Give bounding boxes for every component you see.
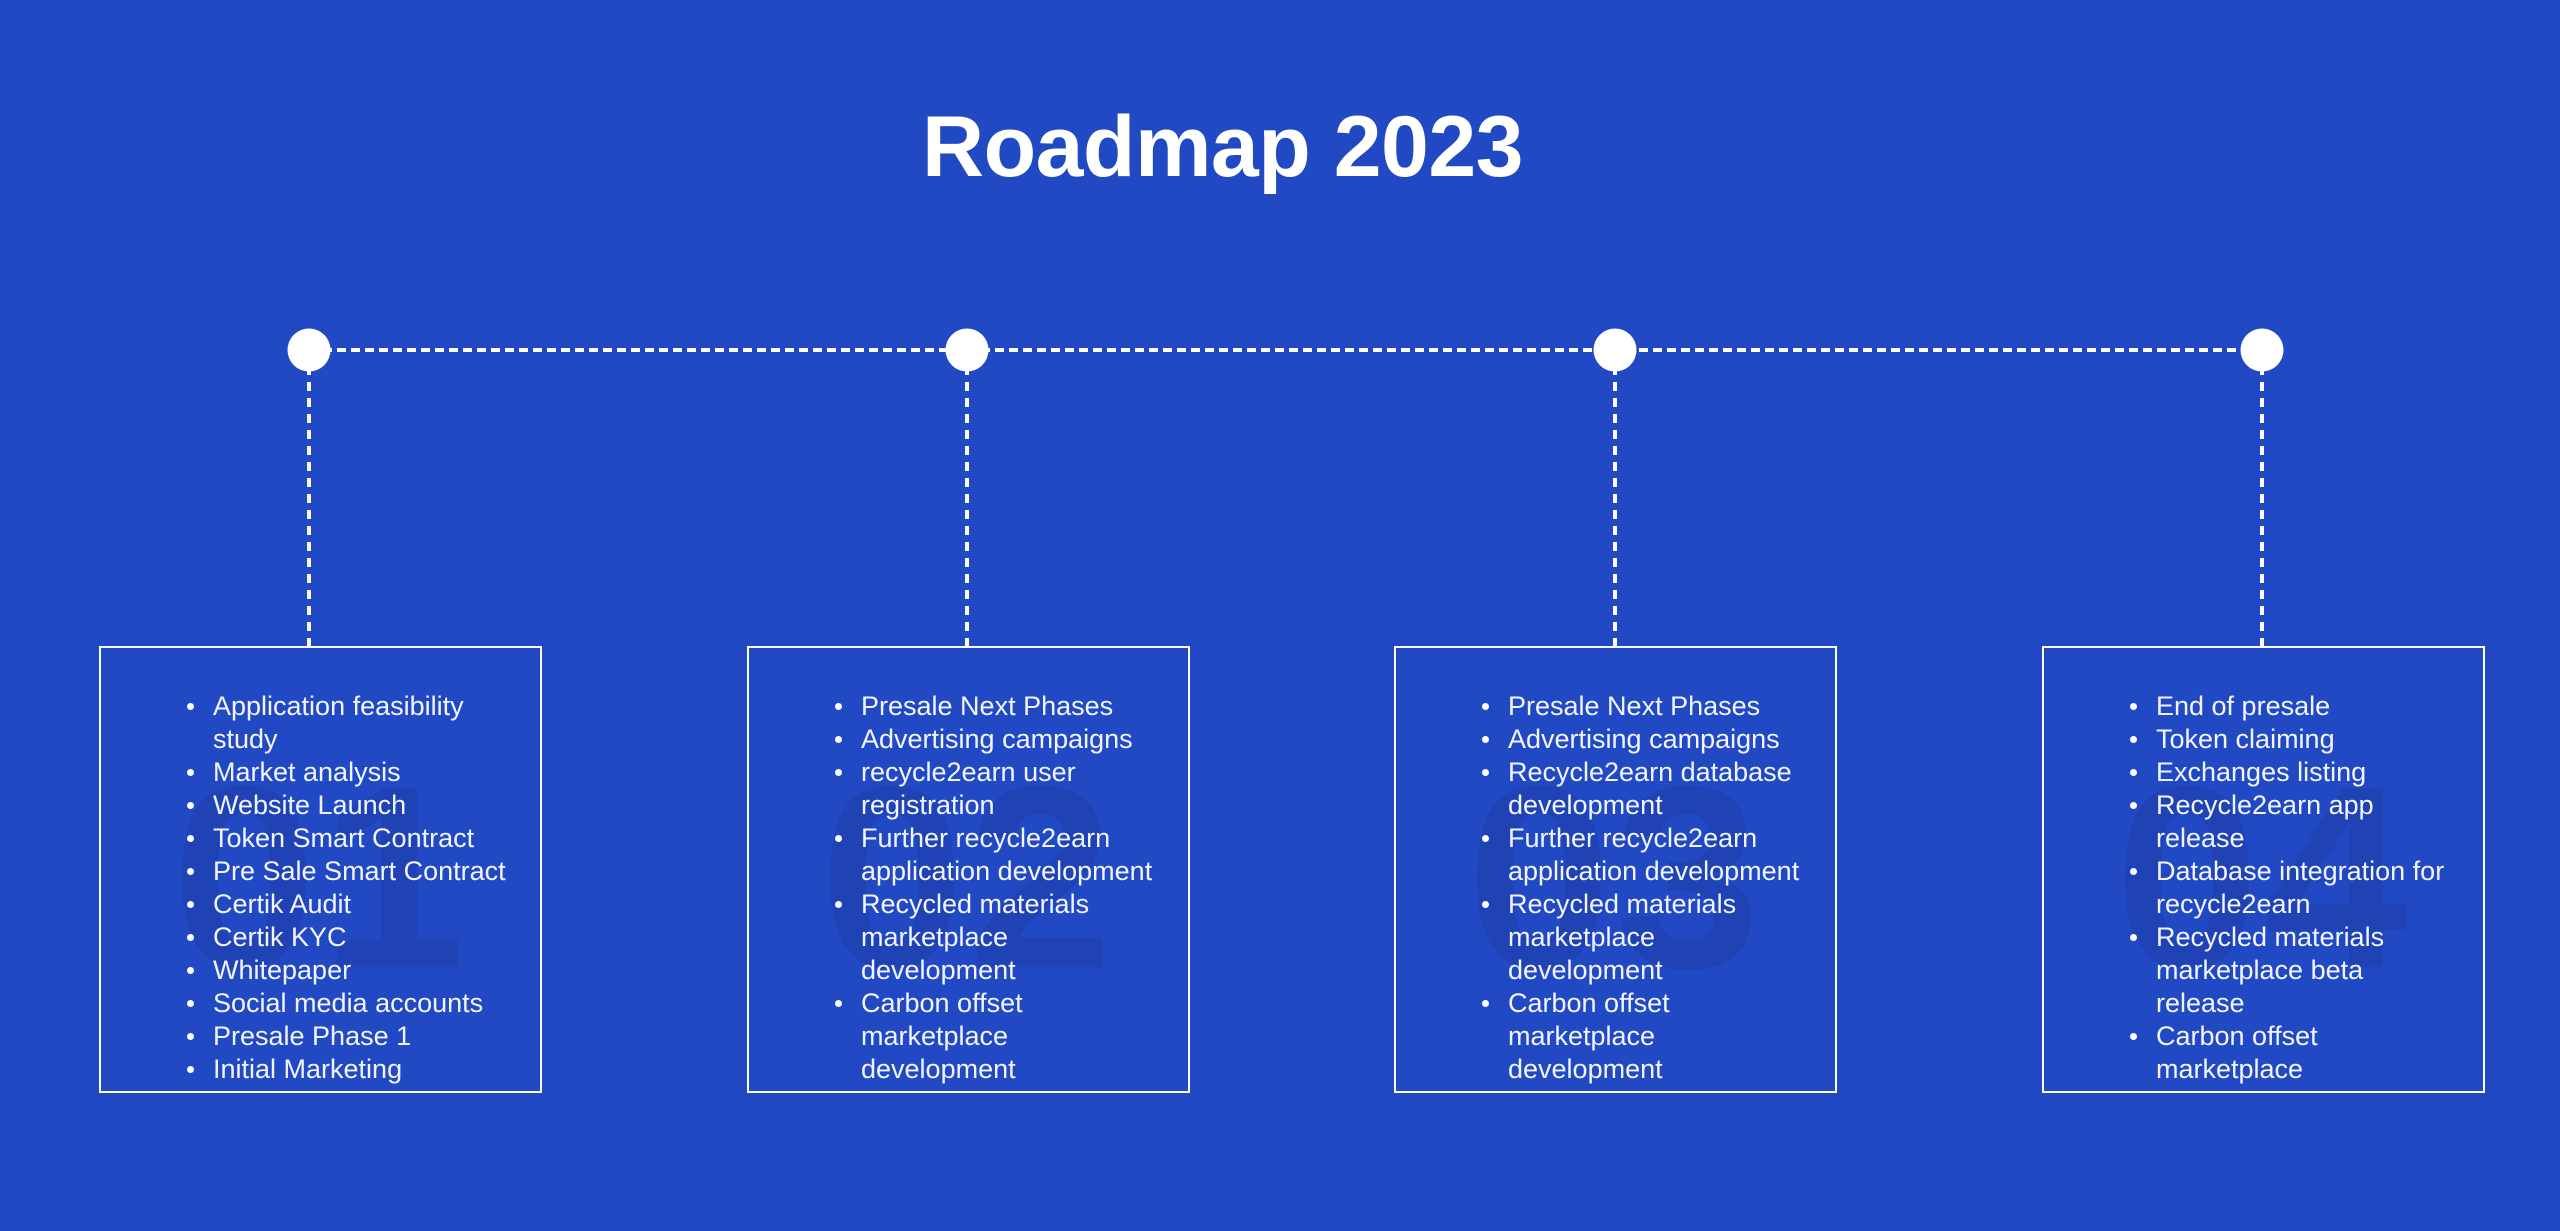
list-item: Advertising campaigns	[1482, 723, 1809, 756]
list-item: Carbon offset marketplace development	[835, 987, 1162, 1086]
list-item: Market analysis	[187, 756, 514, 789]
list-item: Pre Sale Smart Contract	[187, 855, 514, 888]
page-title: Roadmap 2023	[0, 98, 2445, 197]
list-item: Recycle2earn database development	[1482, 756, 1809, 822]
roadmap-infographic: Roadmap 2023 01 Application feasibility …	[0, 0, 2560, 1231]
list-item: Recycled materials marketplace developme…	[835, 888, 1162, 987]
list-item: Advertising campaigns	[835, 723, 1162, 756]
list-item: Application feasibility study	[187, 690, 514, 756]
list-item: Carbon offset marketplace development	[2130, 1020, 2457, 1093]
phase-card-3: 03 Presale Next Phases Advertising campa…	[1394, 646, 1837, 1093]
phase-item-list-1: Application feasibility study Market ana…	[101, 648, 540, 1086]
list-item: Further recycle2earn application develop…	[835, 822, 1162, 888]
timeline-node-3[interactable]	[1594, 329, 1637, 372]
list-item: Carbon offset marketplace development	[1482, 987, 1809, 1086]
phase-item-list-4: End of presale Token claiming Exchanges …	[2044, 648, 2483, 1093]
list-item: End of presale	[2130, 690, 2457, 723]
timeline-node-2[interactable]	[946, 329, 989, 372]
list-item: recycle2earn user registration	[835, 756, 1162, 822]
list-item: Presale Next Phases	[835, 690, 1162, 723]
timeline-node-1[interactable]	[288, 329, 331, 372]
list-item: Certik Audit	[187, 888, 514, 921]
timeline-node-4[interactable]	[2241, 329, 2284, 372]
list-item: Token Smart Contract	[187, 822, 514, 855]
list-item: Database integration for recycle2earn	[2130, 855, 2457, 921]
phase-item-list-3: Presale Next Phases Advertising campaign…	[1396, 648, 1835, 1093]
list-item: Social media accounts	[187, 987, 514, 1020]
list-item: Presale Next Phases	[1482, 690, 1809, 723]
list-item: Website Launch	[187, 789, 514, 822]
phase-card-4: 04 End of presale Token claiming Exchang…	[2042, 646, 2485, 1093]
phase-card-1: 01 Application feasibility study Market …	[99, 646, 542, 1093]
phase-item-list-2: Presale Next Phases Advertising campaign…	[749, 648, 1188, 1086]
list-item: Recycled materials marketplace beta rele…	[2130, 921, 2457, 1020]
list-item: Further recycle2earn application develop…	[1482, 822, 1809, 888]
list-item: Token claiming	[2130, 723, 2457, 756]
list-item: Certik KYC	[187, 921, 514, 954]
list-item: Recycle2earn app release	[2130, 789, 2457, 855]
list-item: Initial Marketing	[187, 1053, 514, 1086]
list-item: Whitepaper	[187, 954, 514, 987]
list-item: Establishing partnerships	[1482, 1086, 1809, 1093]
list-item: Recycled materials marketplace developme…	[1482, 888, 1809, 987]
list-item: Exchanges listing	[2130, 756, 2457, 789]
phase-card-2: 02 Presale Next Phases Advertising campa…	[747, 646, 1190, 1093]
list-item: Presale Phase 1	[187, 1020, 514, 1053]
